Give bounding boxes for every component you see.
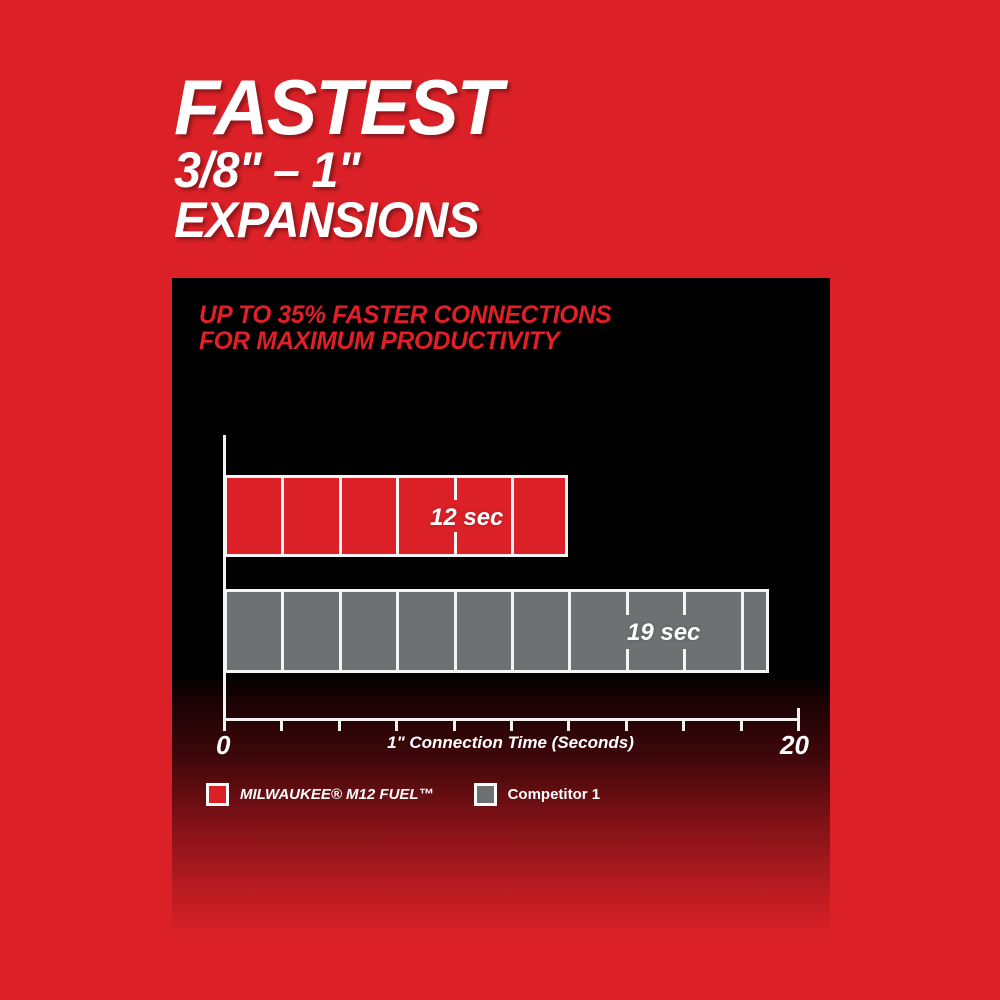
legend-label-competitor: Competitor 1 xyxy=(508,786,601,803)
bar-segment xyxy=(342,592,399,670)
bar-milwaukee-m12-fuel xyxy=(224,475,568,557)
legend-label-milwaukee: MILWAUKEE® M12 FUEL™ xyxy=(240,786,434,803)
x-axis-tick-20 xyxy=(797,708,800,731)
bar-value-milwaukee: 12 sec xyxy=(430,504,503,532)
bar-segment xyxy=(342,478,399,554)
chart-panel: UP TO 35% FASTER CONNECTIONS FOR MAXIMUM… xyxy=(172,278,830,938)
legend-item-milwaukee: MILWAUKEE® M12 FUEL™ xyxy=(206,783,434,806)
bar-segment xyxy=(457,592,514,670)
bar-segment xyxy=(399,592,456,670)
x-axis-tick-18 xyxy=(740,718,743,731)
headline-line-1: FASTEST xyxy=(174,72,853,144)
x-axis-tick-12 xyxy=(567,718,570,731)
bar-segment xyxy=(284,592,341,670)
x-axis-tick-0 xyxy=(223,708,226,731)
x-axis-tick-14 xyxy=(625,718,628,731)
headline-line-3: EXPANSIONS xyxy=(174,197,853,243)
x-axis-title: 1" Connection Time (Seconds) xyxy=(223,733,798,753)
bar-segment xyxy=(744,592,773,670)
legend-swatch-gray-icon xyxy=(474,783,497,806)
headline-line-2: 3/8" – 1" xyxy=(174,147,853,193)
legend-item-competitor: Competitor 1 xyxy=(474,783,601,806)
legend-swatch-red-icon xyxy=(206,783,229,806)
chart-plot-area: 12 sec 19 sec 0 20 1" Connection Time (S… xyxy=(172,278,830,938)
bar-segment xyxy=(284,478,341,554)
bar-segment xyxy=(514,592,571,670)
x-axis-tick-4 xyxy=(338,718,341,731)
x-axis-tick-16 xyxy=(682,718,685,731)
headline-block: FASTEST 3/8" – 1" EXPANSIONS xyxy=(174,72,874,243)
bar-segment xyxy=(227,592,284,670)
bar-segment xyxy=(514,478,571,554)
bar-segment xyxy=(227,478,284,554)
x-axis-tick-8 xyxy=(453,718,456,731)
bar-value-competitor: 19 sec xyxy=(627,619,700,647)
poster-background: FASTEST 3/8" – 1" EXPANSIONS UP TO 35% F… xyxy=(0,0,1000,1000)
x-axis-tick-6 xyxy=(395,718,398,731)
chart-legend: MILWAUKEE® M12 FUEL™ Competitor 1 xyxy=(206,783,600,806)
x-axis-tick-2 xyxy=(280,718,283,731)
x-axis-tick-10 xyxy=(510,718,513,731)
